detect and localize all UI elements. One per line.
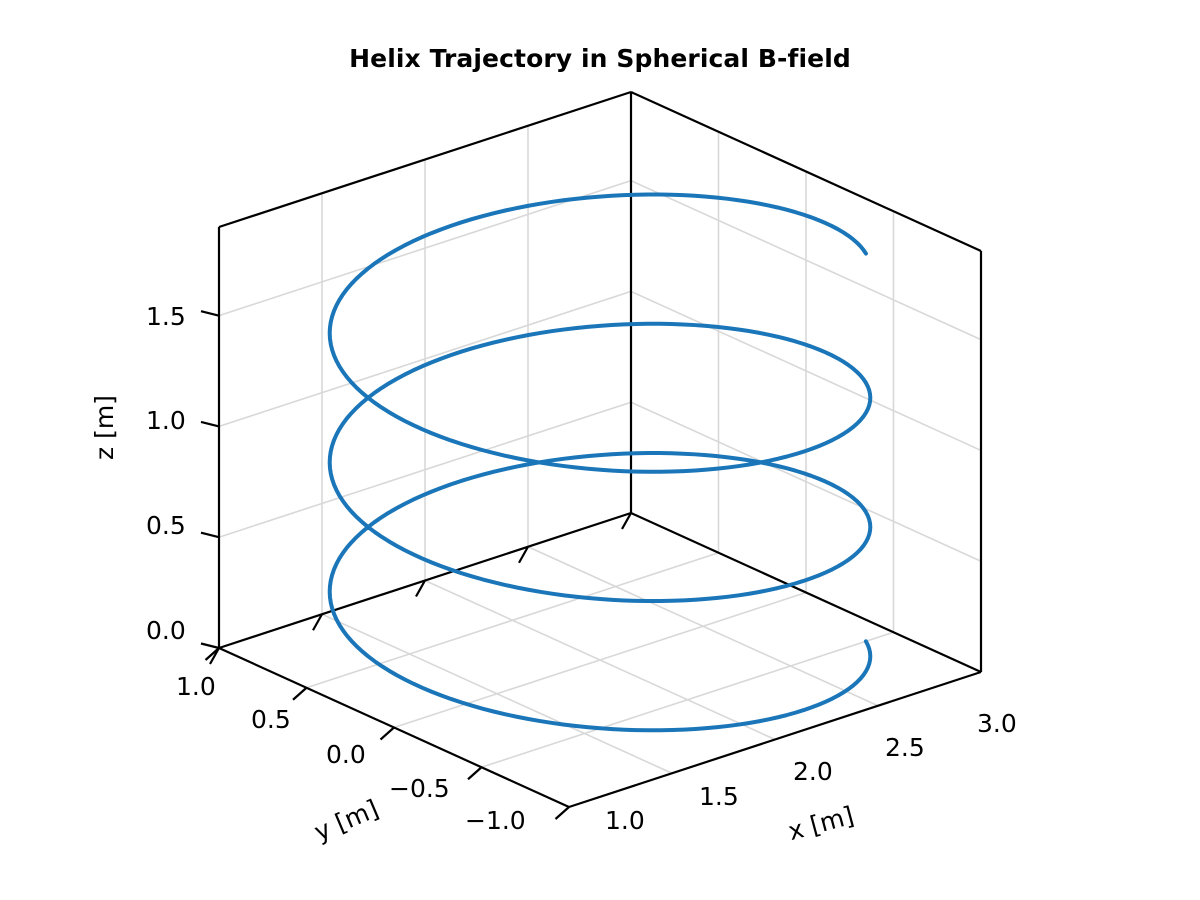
tick-mark-z [201,311,219,316]
tick-mark-x [381,728,395,740]
tick-mark-z [201,533,219,538]
tick-label-x: 1.5 [699,782,739,811]
plot-3d-axes [0,0,1200,900]
tick-label-y: −0.5 [389,774,450,803]
tick-label-z: 0.5 [146,511,186,540]
helix-trajectory-line [330,195,871,731]
grid-line-floor-y [425,581,775,740]
tick-label-z: 0.0 [146,616,186,645]
axis-label-z: z [m] [90,395,119,460]
tick-label-y: 1.0 [176,672,216,701]
tick-label-z: 1.0 [146,406,186,435]
tick-label-x: 2.0 [793,757,833,786]
tick-label-x: 1.0 [605,806,645,835]
helix-trajectory-path [330,195,871,731]
tick-label-x: 2.5 [885,733,925,762]
tick-label-z: 1.5 [146,302,186,331]
tick-label-y: 0.5 [251,705,291,734]
tick-mark-x [556,807,570,819]
tick-mark-z [201,422,219,427]
tick-label-y: 0.0 [326,740,366,769]
tick-mark-z [201,644,219,649]
tick-label-y: −1.0 [465,806,526,835]
tick-mark-x [468,767,482,779]
tick-label-x: 3.0 [977,709,1017,738]
grid-line-floor-y [322,614,672,773]
tick-mark-x [293,688,307,700]
figure-canvas: Helix Trajectory in Spherical B-field 1.… [0,0,1200,900]
